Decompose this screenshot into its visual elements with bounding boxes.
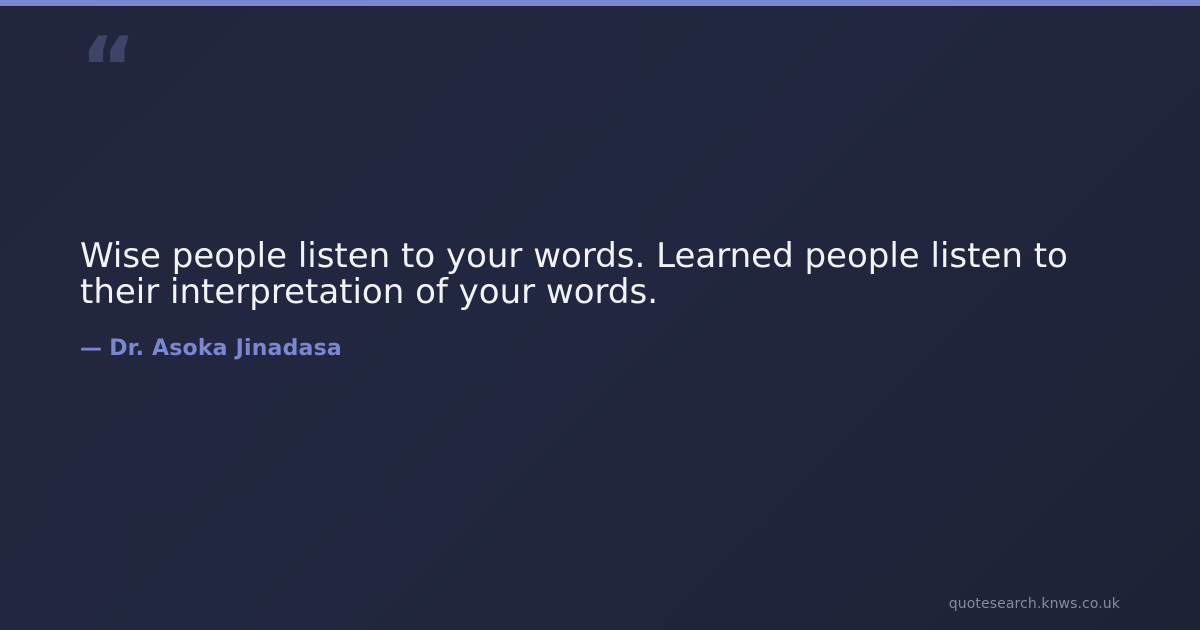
author-name: Dr. Asoka Jinadasa [109,336,342,361]
opening-quote-icon: “ [80,26,140,86]
author-dash: — [80,336,109,361]
quote-text: Wise people listen to your words. Learne… [80,238,1110,310]
quote-content: Wise people listen to your words. Learne… [80,238,1110,361]
quote-author: —Dr. Asoka Jinadasa [80,310,1110,361]
site-watermark: quotesearch.knws.co.uk [949,596,1120,612]
top-accent-bar [0,0,1200,6]
quote-card: “ Wise people listen to your words. Lear… [0,0,1200,630]
